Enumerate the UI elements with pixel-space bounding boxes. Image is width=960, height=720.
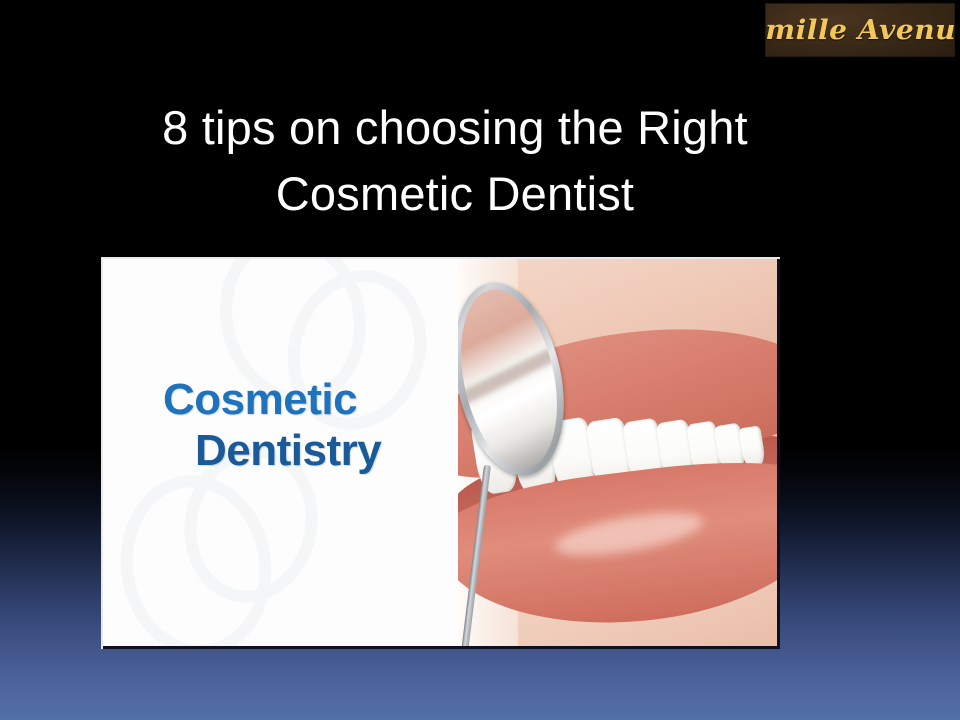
slide-title-line-1: 8 tips on choosing the Right — [40, 95, 870, 161]
image-wordmark-panel: Cosmetic Dentistry — [103, 259, 458, 649]
image-wordmark-line-2: Dentistry — [103, 425, 458, 477]
brand-logo[interactable]: Smille Avenue — [765, 3, 955, 57]
image-wordmark-line-1: Cosmetic — [103, 375, 458, 425]
slide-title-line-2: Cosmetic Dentist — [40, 161, 870, 227]
slide-title: 8 tips on choosing the Right Cosmetic De… — [40, 95, 870, 227]
brand-logo-text: Smille Avenue — [765, 15, 955, 46]
presentation-slide: Smille Avenue 8 tips on choosing the Rig… — [0, 0, 960, 720]
slide-image: Cosmetic Dentistry — [101, 257, 780, 649]
image-wordmark: Cosmetic Dentistry — [103, 375, 458, 477]
smile-photo — [458, 259, 780, 649]
